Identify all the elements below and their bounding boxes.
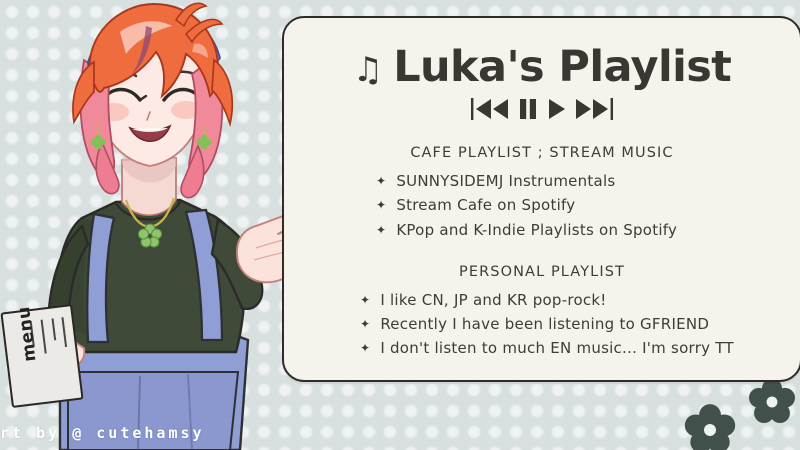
section-heading: PERSONAL PLAYLIST — [459, 264, 625, 280]
artist-credit-watermark: art by @ cutehamsy — [0, 424, 205, 442]
rewind-button[interactable] — [470, 97, 510, 121]
list-item: ✦ Recently I have been listening to GFRI… — [360, 312, 709, 336]
list-item: ✦ Stream Cafe on Spotify — [376, 193, 575, 217]
list-item: ✦ KPop and K-Indie Playlists on Spotify — [376, 218, 677, 242]
fast-forward-button[interactable] — [574, 97, 614, 121]
media-controls — [470, 97, 614, 121]
section-personal-playlist: PERSONAL PLAYLIST ✦ I like CN, JP and KR… — [310, 264, 774, 361]
section-heading: CAFE PLAYLIST ; STREAM MUSIC — [410, 145, 673, 161]
list-item-label: Stream Cafe on Spotify — [396, 193, 575, 217]
sparkle-bullet-icon: ✦ — [376, 196, 386, 215]
list-item: ✦ I like CN, JP and KR pop-rock! — [360, 288, 607, 312]
list-item-label: I like CN, JP and KR pop-rock! — [380, 288, 606, 312]
sparkle-bullet-icon: ✦ — [376, 221, 386, 240]
playlist-card: ♫ Luka's Playlist — [282, 16, 800, 382]
personal-playlist-list: ✦ I like CN, JP and KR pop-rock! ✦ Recen… — [310, 288, 774, 361]
list-item: ✦ SUNNYSIDEMJ Instrumentals — [376, 169, 615, 193]
music-note-icon: ♫ — [353, 53, 383, 87]
list-item-label: KPop and K-Indie Playlists on Spotify — [396, 218, 677, 242]
pause-button[interactable] — [518, 97, 538, 121]
menu-board: menu — [0, 304, 83, 408]
play-button[interactable] — [546, 97, 566, 121]
list-item-label: Recently I have been listening to GFRIEN… — [380, 312, 709, 336]
page-title: Luka's Playlist — [393, 46, 731, 89]
list-item-label: SUNNYSIDEMJ Instrumentals — [396, 169, 615, 193]
sparkle-bullet-icon: ✦ — [360, 339, 370, 358]
section-cafe-playlist: CAFE PLAYLIST ; STREAM MUSIC ✦ SUNNYSIDE… — [310, 145, 774, 242]
sparkle-bullet-icon: ✦ — [360, 291, 370, 310]
sparkle-bullet-icon: ✦ — [360, 315, 370, 334]
list-item: ✦ I don't listen to much EN music... I'm… — [360, 336, 734, 360]
playlist-overlay-scene: menu art by @ cutehamsy ♫ Luka's Playlis… — [0, 0, 800, 450]
list-item-label: I don't listen to much EN music... I'm s… — [380, 336, 734, 360]
playlist-title-row: ♫ Luka's Playlist — [353, 46, 731, 89]
sparkle-bullet-icon: ✦ — [376, 172, 386, 191]
cafe-playlist-list: ✦ SUNNYSIDEMJ Instrumentals ✦ Stream Caf… — [310, 169, 774, 242]
menu-board-label: menu — [14, 305, 41, 362]
